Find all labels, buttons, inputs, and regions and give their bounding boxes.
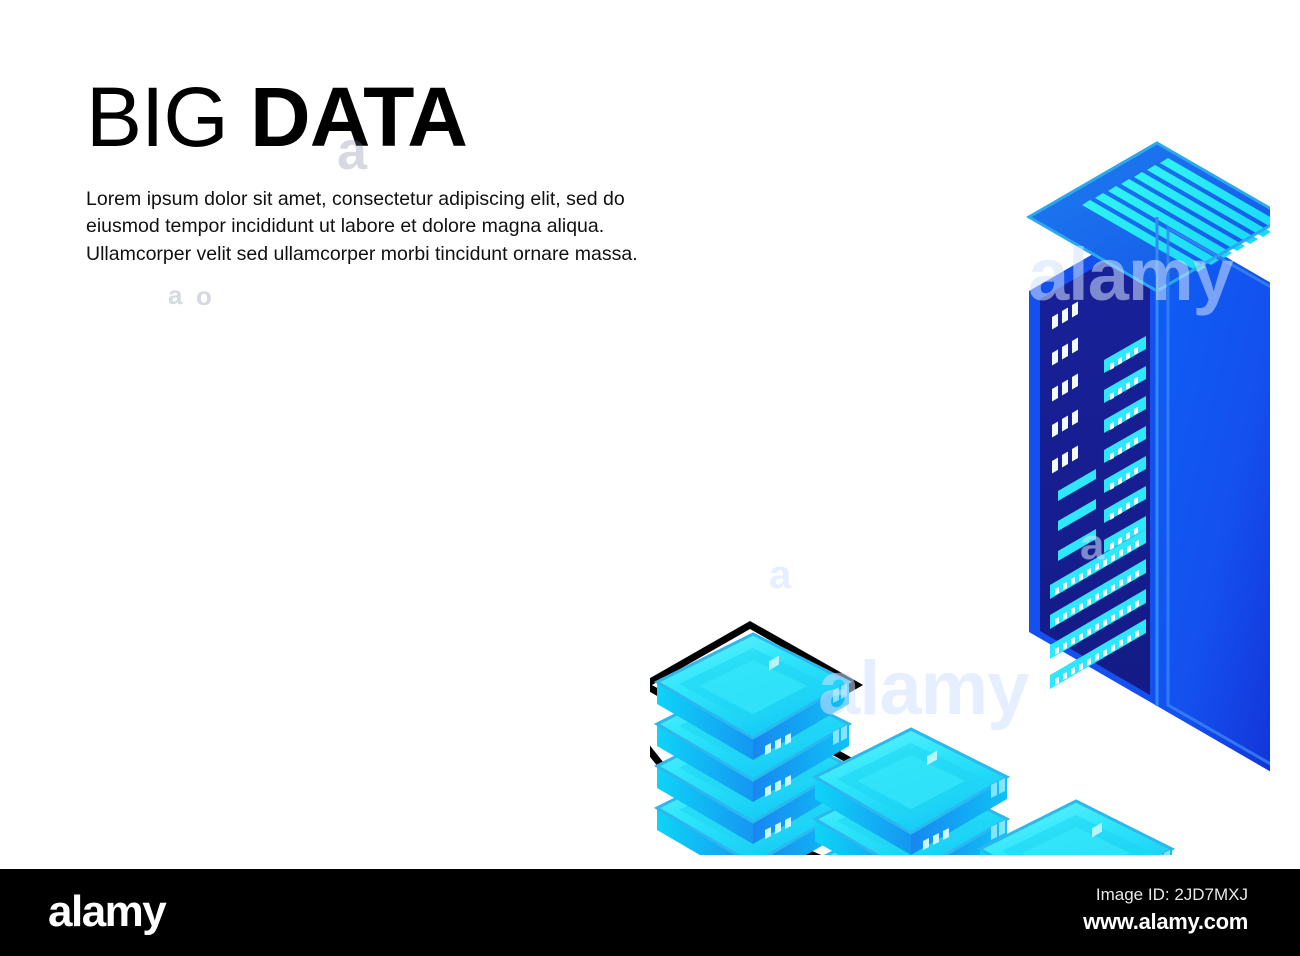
watermark-tile: a [168, 280, 181, 311]
text-block: BIG DATA Lorem ipsum dolor sit amet, con… [86, 78, 656, 269]
title-word-bold: DATA [250, 70, 467, 164]
watermark-tile: o [196, 281, 211, 312]
datacenter-illustration [650, 95, 1270, 855]
alamy-url: www.alamy.com [1083, 909, 1248, 935]
server-stack-3 [980, 801, 1172, 855]
server-rack [1029, 143, 1270, 780]
image-id-value: 2JD7MXJ [1174, 885, 1248, 904]
image-id-label: Image ID: [1096, 885, 1170, 904]
isometric-network-svg [650, 95, 1270, 855]
title-word-light: BIG [86, 70, 228, 164]
body-paragraph: Lorem ipsum dolor sit amet, consectetur … [86, 186, 646, 269]
alamy-footer-bar: alamy Image ID: 2JD7MXJ www.alamy.com [0, 869, 1300, 956]
page-title: BIG DATA [86, 78, 656, 158]
footer-meta: Image ID: 2JD7MXJ www.alamy.com [1083, 885, 1248, 935]
image-id: Image ID: 2JD7MXJ [1083, 885, 1248, 905]
illustration-canvas: BIG DATA Lorem ipsum dolor sit amet, con… [0, 0, 1300, 956]
alamy-logo: alamy [48, 887, 165, 937]
